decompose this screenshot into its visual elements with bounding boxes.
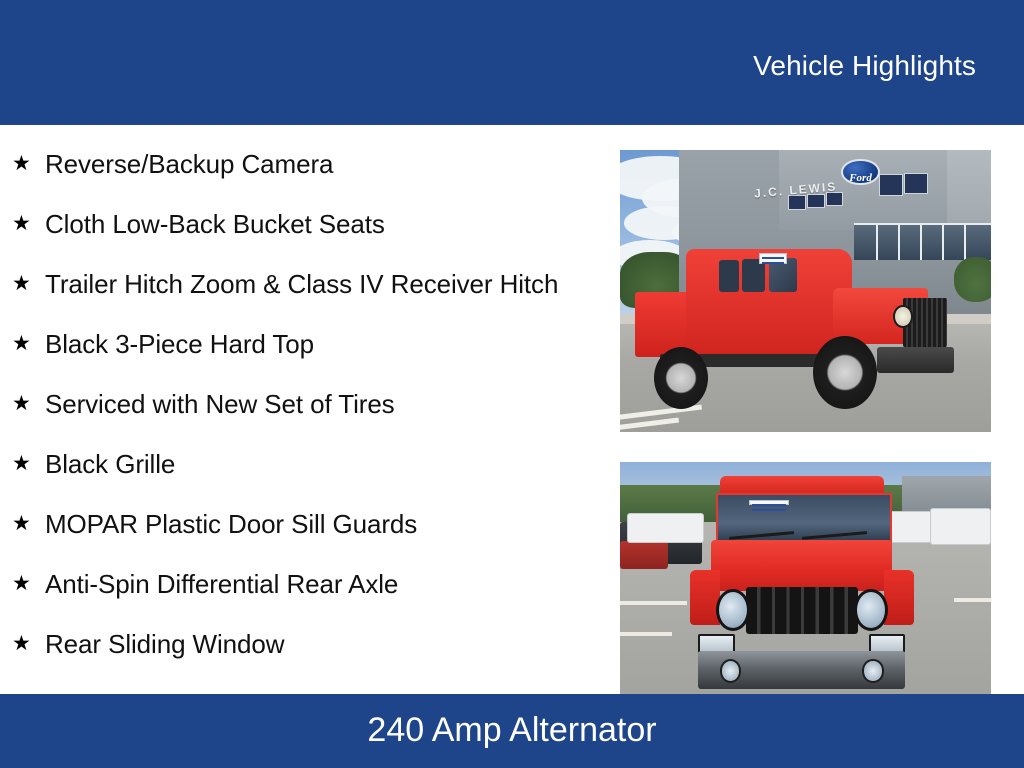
building-window	[904, 173, 928, 194]
highlight-label: Cloth Low-Back Bucket Seats	[45, 207, 385, 241]
star-bullet-icon: ★	[12, 567, 45, 601]
highlight-label: Rear Sliding Window	[45, 627, 284, 661]
page-title: Vehicle Highlights	[753, 50, 976, 82]
footer-caption: 240 Amp Alternator	[0, 708, 1024, 752]
star-bullet-icon: ★	[12, 207, 45, 241]
star-bullet-icon: ★	[12, 387, 45, 421]
parking-stripe	[620, 601, 687, 605]
photo-scene: Ford J.C. LEWIS	[620, 150, 991, 432]
list-item: ★ Reverse/Backup Camera	[0, 125, 610, 207]
list-item: ★ Cloth Low-Back Bucket Seats	[0, 207, 610, 267]
highlight-label: Reverse/Backup Camera	[45, 147, 333, 181]
highlight-label: Black 3-Piece Hard Top	[45, 327, 314, 361]
list-item: ★ Serviced with New Set of Tires	[0, 387, 610, 447]
front-fender-right	[884, 570, 914, 625]
star-bullet-icon: ★	[12, 627, 45, 661]
list-item: ★ Trailer Hitch Zoom & Class IV Receiver…	[0, 267, 610, 327]
parked-white-truck	[627, 513, 703, 543]
headlight-right	[854, 589, 888, 631]
building-window	[807, 194, 825, 208]
turn-signal-right	[869, 634, 905, 653]
window-price-sticker	[749, 500, 789, 506]
front-wheel	[813, 336, 877, 410]
parked-red-truck	[620, 541, 668, 569]
parking-stripe	[620, 632, 672, 636]
headlight-left	[716, 589, 750, 631]
footer-bar: 240 Amp Alternator	[0, 694, 1024, 768]
building-window	[788, 195, 806, 209]
rear-side-window	[719, 260, 739, 292]
window-mullion	[964, 225, 966, 260]
window-price-sticker	[759, 253, 788, 264]
rear-wheel	[654, 347, 708, 409]
star-bullet-icon: ★	[12, 507, 45, 541]
vehicle-photo-exterior-front-three-quarter[interactable]: Ford J.C. LEWIS	[620, 150, 991, 432]
list-item: ★ Black 3-Piece Hard Top	[0, 327, 610, 387]
turn-signal-left	[698, 634, 734, 653]
star-bullet-icon: ★	[12, 267, 45, 301]
highlight-label: Anti-Spin Differential Rear Axle	[45, 567, 398, 601]
highlight-label: MOPAR Plastic Door Sill Guards	[45, 507, 417, 541]
list-item: ★ Rear Sliding Window	[0, 627, 610, 687]
list-item: ★ Anti-Spin Differential Rear Axle	[0, 567, 610, 627]
list-item: ★ Black Grille	[0, 447, 610, 507]
parking-stripe	[954, 598, 991, 602]
star-bullet-icon: ★	[12, 447, 45, 481]
fog-light-right	[862, 659, 883, 682]
tree-foliage	[954, 257, 991, 302]
building-window	[879, 174, 903, 195]
star-bullet-icon: ★	[12, 147, 45, 181]
vehicle-photo-exterior-front[interactable]	[620, 462, 991, 694]
hood	[711, 540, 892, 591]
ford-logo-icon: Ford	[841, 159, 879, 186]
ford-logo-text: Ford	[843, 161, 877, 184]
parking-stripe	[620, 418, 679, 432]
star-bullet-icon: ★	[12, 327, 45, 361]
black-grille	[746, 587, 858, 634]
header-bar: Vehicle Highlights	[0, 0, 1024, 125]
highlight-label: Trailer Hitch Zoom & Class IV Receiver H…	[45, 267, 558, 301]
parked-white-truck	[930, 508, 991, 545]
fog-light-left	[720, 659, 741, 682]
content-area: ★ Reverse/Backup Camera ★ Cloth Low-Back…	[0, 125, 1024, 694]
photo-scene	[620, 462, 991, 694]
red-jeep-gladiator-front	[694, 476, 909, 689]
highlight-label: Black Grille	[45, 447, 175, 481]
front-bumper	[877, 347, 954, 373]
red-jeep-gladiator-side	[635, 246, 954, 410]
vehicle-highlights-list: ★ Reverse/Backup Camera ★ Cloth Low-Back…	[0, 125, 610, 687]
highlight-label: Serviced with New Set of Tires	[45, 387, 395, 421]
list-item: ★ MOPAR Plastic Door Sill Guards	[0, 507, 610, 567]
front-fender-left	[690, 570, 720, 625]
